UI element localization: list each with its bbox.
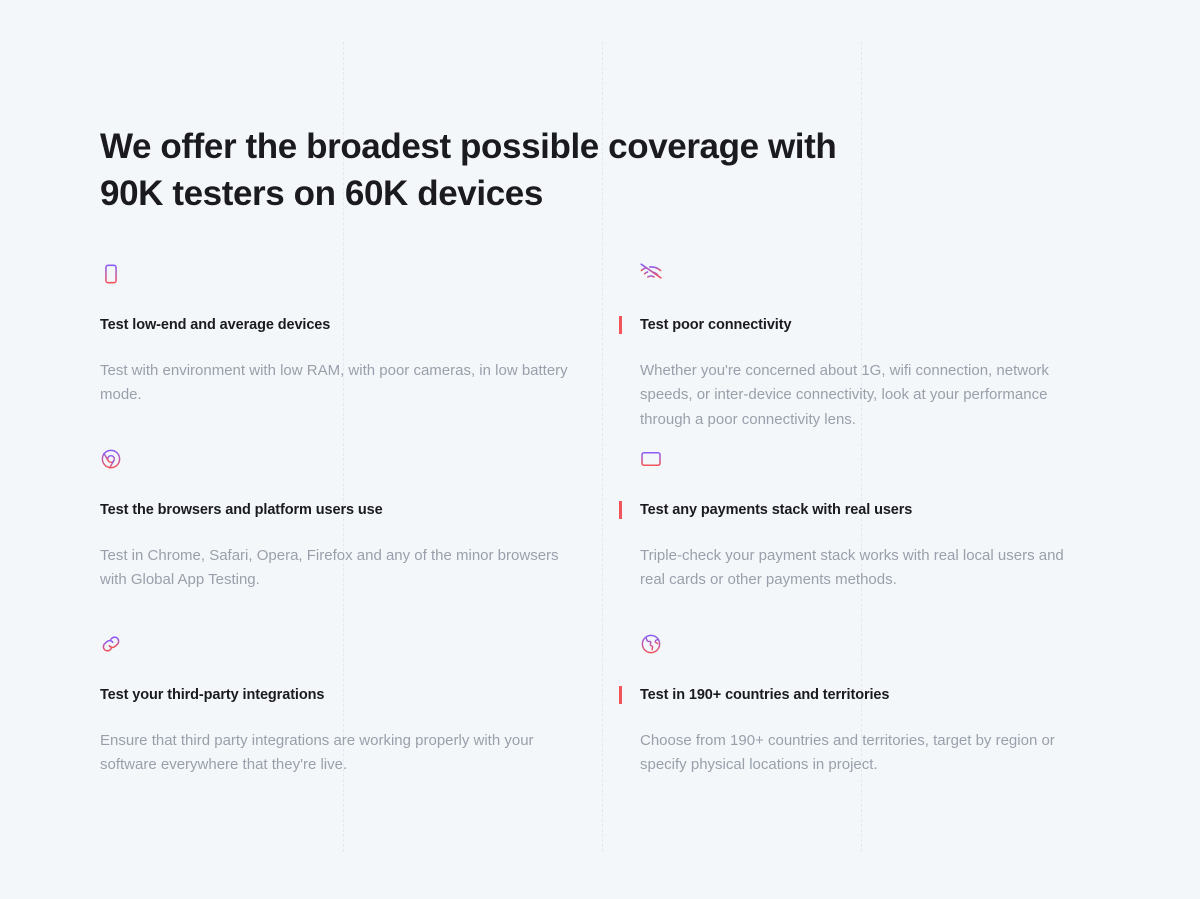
feature-description: Test with environment with low RAM, with… <box>100 359 580 408</box>
feature-description: Whether you're concerned about 1G, wifi … <box>640 359 1080 432</box>
feature-card-browsers: Test the browsers and platform users use… <box>100 446 620 631</box>
wifi-off-icon <box>640 261 1080 295</box>
section-heading: We offer the broadest possible coverage … <box>100 0 890 217</box>
credit-card-icon <box>640 446 1080 480</box>
feature-card-integrations: Test your third-party integrations Ensur… <box>100 631 620 816</box>
feature-card-payments: Test any payments stack with real users … <box>620 446 1100 631</box>
coverage-section: We offer the broadest possible coverage … <box>0 0 1200 899</box>
feature-card-countries: Test in 190+ countries and territories C… <box>620 631 1100 816</box>
feature-description: Triple-check your payment stack works wi… <box>640 544 1080 593</box>
chrome-browser-icon <box>100 446 600 480</box>
feature-title: Test your third-party integrations <box>100 686 600 705</box>
feature-title: Test in 190+ countries and territories <box>640 686 1080 705</box>
feature-card-low-end-devices: Test low-end and average devices Test wi… <box>100 261 620 446</box>
feature-description: Ensure that third party integrations are… <box>100 729 580 778</box>
globe-icon <box>640 631 1080 665</box>
feature-title: Test poor connectivity <box>640 316 1080 335</box>
feature-title: Test the browsers and platform users use <box>100 501 600 520</box>
smartphone-icon <box>100 261 600 295</box>
feature-grid: Test low-end and average devices Test wi… <box>100 261 1100 816</box>
feature-title: Test any payments stack with real users <box>640 501 1080 520</box>
feature-title: Test low-end and average devices <box>100 316 600 335</box>
feature-description: Choose from 190+ countries and territori… <box>640 729 1080 778</box>
feature-card-poor-connectivity: Test poor connectivity Whether you're co… <box>620 261 1100 446</box>
feature-description: Test in Chrome, Safari, Opera, Firefox a… <box>100 544 580 593</box>
link-chain-icon <box>100 631 600 665</box>
